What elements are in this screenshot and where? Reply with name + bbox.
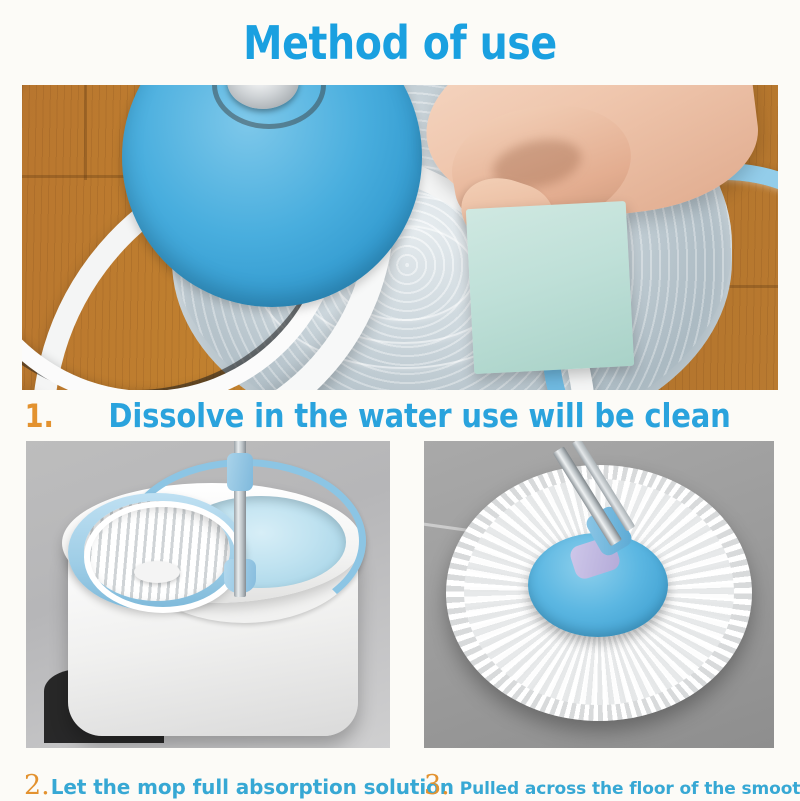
cleaning-tablet	[466, 201, 634, 374]
step-2-number: 2.	[24, 770, 50, 801]
step-1-number: 1.	[25, 397, 54, 435]
step-2-text: Let the mop full absorption solution	[51, 775, 454, 799]
step-3-text: Pulled across the floor of the smooth as…	[460, 779, 800, 799]
step-3-caption: 3. Pulled across the floor of the smooth…	[424, 770, 800, 801]
page-title: Method of use	[56, 16, 744, 70]
mop-pole-collar	[227, 453, 253, 491]
step-2-caption: 2. Let the mop full absorption solution	[24, 770, 454, 801]
step-3-photo	[424, 441, 774, 748]
spinner-basket-center	[134, 561, 180, 583]
step-1-caption: 1. Dissolve in the water use will be cle…	[22, 396, 774, 435]
spinner-basket-rim	[84, 501, 242, 613]
step-3-number: 3.	[424, 770, 450, 801]
step-2-photo	[26, 441, 390, 748]
step-1-photo	[22, 85, 778, 390]
step-1-text: Dissolve in the water use will be clean	[109, 396, 731, 435]
